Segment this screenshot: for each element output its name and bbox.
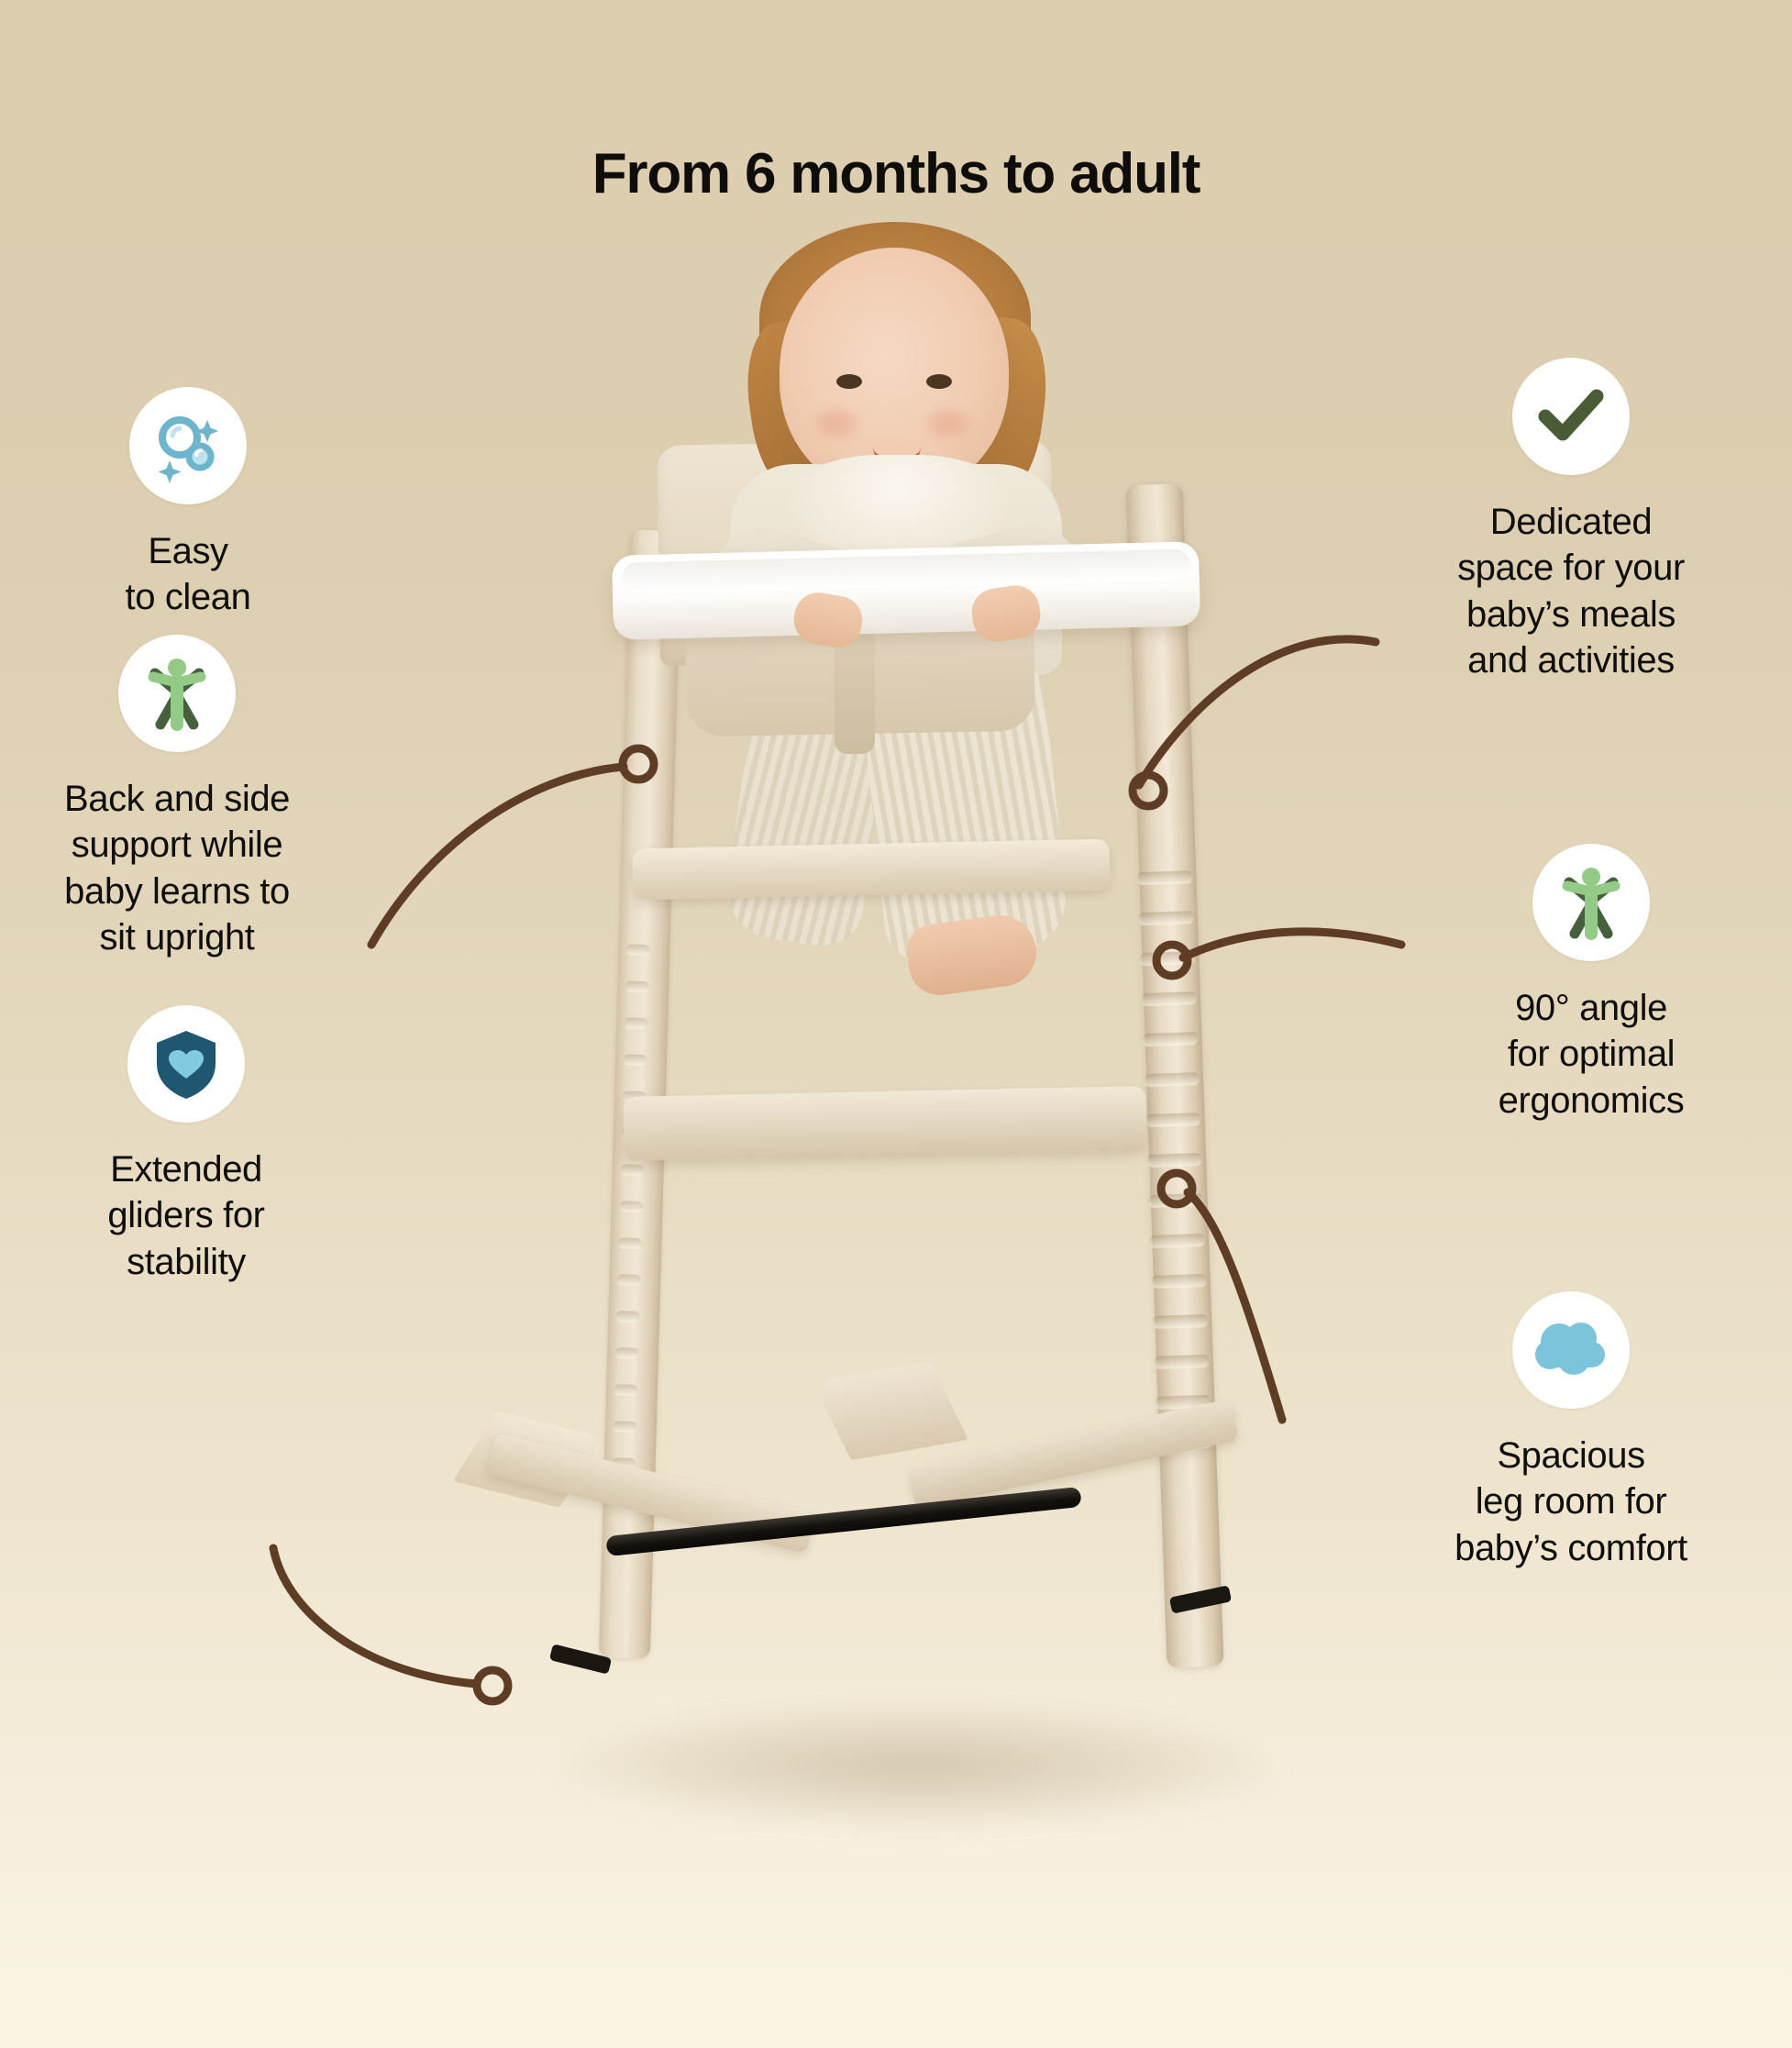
feature-extended-gliders[interactable]: Extended gliders for stability bbox=[35, 1005, 337, 1285]
feature-dedicated-space[interactable]: Dedicated space for your baby’s meals an… bbox=[1420, 358, 1722, 684]
feature-caption: Easy to clean bbox=[37, 528, 339, 621]
baby-cheek-right bbox=[928, 411, 968, 437]
checkmark-icon bbox=[1512, 358, 1630, 475]
chair-seat-plate bbox=[632, 839, 1110, 901]
cloud-icon bbox=[1512, 1291, 1630, 1409]
bubbles-sparkle-icon bbox=[129, 387, 247, 504]
baby-eye-left bbox=[836, 374, 862, 389]
baby-eye-right bbox=[926, 374, 952, 389]
connector-node-extended-gliders bbox=[477, 1670, 508, 1701]
connector-extended-gliders bbox=[273, 1548, 477, 1684]
floor-shadow bbox=[550, 1701, 1284, 1830]
chair-foot-plate bbox=[623, 1086, 1146, 1161]
shield-heart-icon bbox=[127, 1005, 245, 1123]
product-image bbox=[514, 303, 1311, 1954]
feature-caption: Back and side support while baby learns … bbox=[26, 776, 328, 961]
feature-easy-to-clean[interactable]: Easy to clean bbox=[37, 387, 339, 621]
ergonomics-figure-icon bbox=[118, 635, 236, 752]
glider-fin-right bbox=[813, 1361, 968, 1461]
feature-caption: Dedicated space for your baby’s meals an… bbox=[1420, 499, 1722, 684]
ergonomics-figure-icon bbox=[1532, 844, 1650, 961]
feature-caption: Spacious leg room for baby’s comfort bbox=[1420, 1433, 1722, 1571]
feature-spacious-leg-room[interactable]: Spacious leg room for baby’s comfort bbox=[1420, 1291, 1722, 1571]
page-title: From 6 months to adult bbox=[0, 141, 1792, 206]
baby-cheek-left bbox=[816, 411, 857, 437]
feature-ninety-degree-angle[interactable]: 90° angle for optimal ergonomics bbox=[1440, 844, 1742, 1124]
feature-back-side-support[interactable]: Back and side support while baby learns … bbox=[26, 635, 328, 961]
feature-caption: Extended gliders for stability bbox=[35, 1146, 337, 1285]
feature-caption: 90° angle for optimal ergonomics bbox=[1440, 985, 1742, 1124]
